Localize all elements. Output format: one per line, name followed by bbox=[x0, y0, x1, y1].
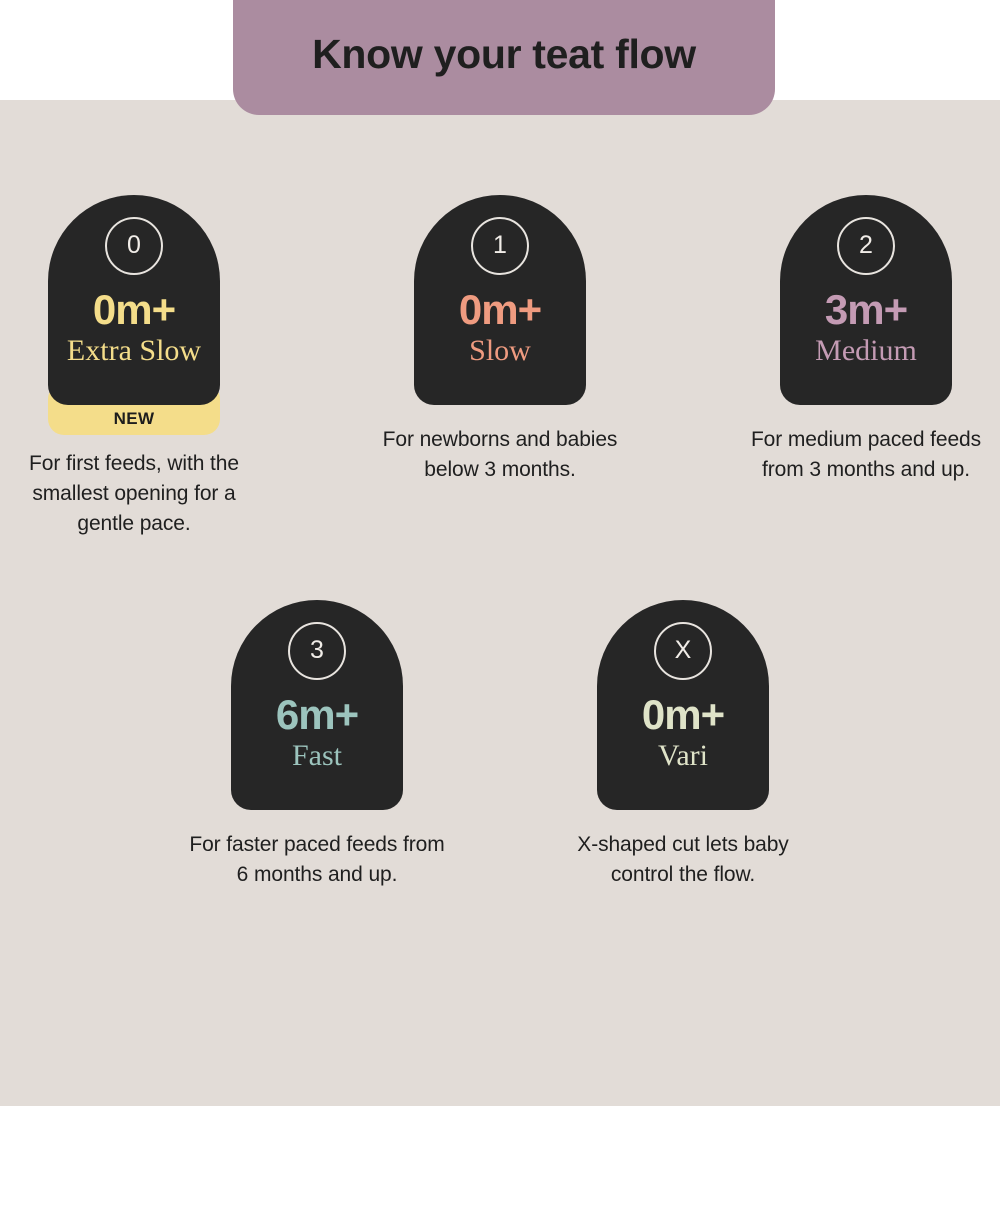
badge-number-2: 2 bbox=[859, 233, 873, 258]
badge-graphic-x: X 0m+ Vari bbox=[597, 600, 769, 810]
header-banner: Know your teat flow bbox=[233, 0, 775, 115]
teat-flow-infographic: Know your teat flow NEW 0 0m+ Extra Slow… bbox=[0, 0, 1000, 1208]
badge-arch-x: X 0m+ Vari bbox=[597, 600, 769, 810]
badge-card-x[interactable]: X 0m+ Vari X-shaped cut lets baby contro… bbox=[551, 600, 816, 911]
badge-card-2[interactable]: 2 3m+ Medium For medium paced feeds from… bbox=[734, 195, 999, 559]
badge-caption-0: For first feeds, with the smallest openi… bbox=[2, 449, 267, 538]
badge-card-1[interactable]: 1 0m+ Slow For newborns and babies below… bbox=[368, 195, 633, 559]
badge-speed-x: Vari bbox=[658, 740, 708, 772]
badge-number-1: 1 bbox=[493, 233, 507, 258]
badge-speed-1: Slow bbox=[469, 335, 531, 367]
badge-caption-3: For faster paced feeds from 6 months and… bbox=[185, 830, 450, 890]
badge-number-3: 3 bbox=[310, 638, 324, 663]
badge-row-top: NEW 0 0m+ Extra Slow For first feeds, wi… bbox=[0, 195, 1000, 559]
badge-number-circle-3: 3 bbox=[288, 622, 346, 680]
badge-caption-1: For newborns and babies below 3 months. bbox=[368, 425, 633, 485]
badge-speed-3: Fast bbox=[292, 740, 342, 772]
badge-card-0[interactable]: NEW 0 0m+ Extra Slow For first feeds, wi… bbox=[2, 195, 267, 559]
badge-arch-2: 2 3m+ Medium bbox=[780, 195, 952, 405]
badge-number-x: X bbox=[675, 638, 692, 663]
badge-arch-1: 1 0m+ Slow bbox=[414, 195, 586, 405]
badge-speed-2: Medium bbox=[815, 335, 917, 367]
badge-age-2: 3m+ bbox=[825, 289, 907, 331]
badge-age-3: 6m+ bbox=[276, 694, 358, 736]
badge-card-3[interactable]: 3 6m+ Fast For faster paced feeds from 6… bbox=[185, 600, 450, 911]
badge-arch-0: 0 0m+ Extra Slow bbox=[48, 195, 220, 405]
badge-caption-2: For medium paced feeds from 3 months and… bbox=[734, 425, 999, 485]
badge-graphic-0: NEW 0 0m+ Extra Slow bbox=[48, 195, 220, 435]
badge-number-circle-x: X bbox=[654, 622, 712, 680]
badge-graphic-1: 1 0m+ Slow bbox=[414, 195, 586, 405]
badge-number-circle-1: 1 bbox=[471, 217, 529, 275]
badge-age-0: 0m+ bbox=[93, 289, 175, 331]
badge-arch-3: 3 6m+ Fast bbox=[231, 600, 403, 810]
badge-caption-x: X-shaped cut lets baby control the flow. bbox=[551, 830, 816, 890]
badge-number-0: 0 bbox=[127, 233, 141, 258]
badge-age-x: 0m+ bbox=[642, 694, 724, 736]
badge-graphic-2: 2 3m+ Medium bbox=[780, 195, 952, 405]
badge-number-circle-2: 2 bbox=[837, 217, 895, 275]
badge-speed-0: Extra Slow bbox=[67, 335, 201, 367]
badge-age-1: 0m+ bbox=[459, 289, 541, 331]
badge-row-bottom: 3 6m+ Fast For faster paced feeds from 6… bbox=[0, 600, 1000, 911]
badge-graphic-3: 3 6m+ Fast bbox=[231, 600, 403, 810]
badge-number-circle-0: 0 bbox=[105, 217, 163, 275]
new-ribbon-label: NEW bbox=[114, 410, 155, 427]
page-title: Know your teat flow bbox=[312, 34, 696, 81]
